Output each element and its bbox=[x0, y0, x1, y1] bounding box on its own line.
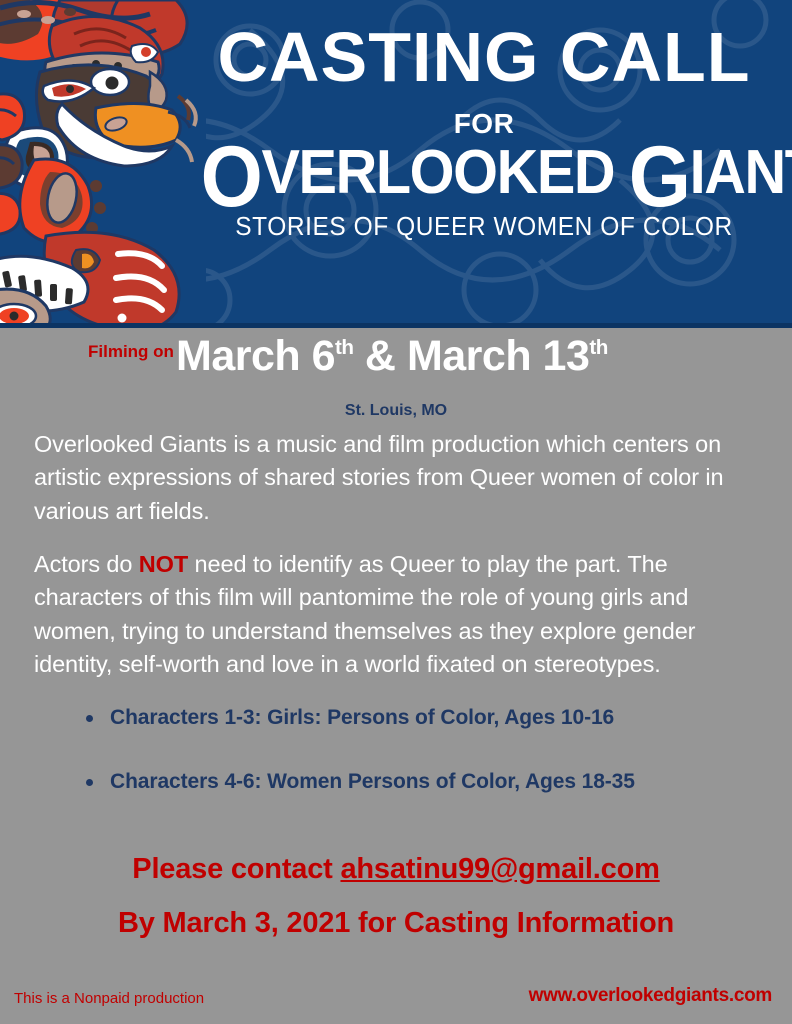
list-item: Characters 4-6: Women Persons of Color, … bbox=[86, 770, 746, 794]
headline-casting-call: CASTING CALL bbox=[176, 22, 792, 92]
title-cap-o: O bbox=[201, 129, 262, 225]
role-text-2: Characters 4-6: Women Persons of Color, … bbox=[110, 770, 635, 794]
for-label: FOR bbox=[176, 108, 792, 140]
date-separator: & bbox=[353, 332, 406, 380]
title-part-b: IANTS bbox=[690, 138, 792, 207]
contact-email-link[interactable]: ahsatinu99@gmail.com bbox=[340, 853, 659, 885]
banner-bottom-rule bbox=[0, 323, 792, 328]
date-one: March 6 bbox=[176, 332, 335, 380]
film-subtitle: STORIES OF QUEER WOMEN OF COLOR bbox=[188, 213, 779, 242]
date-two-suffix: th bbox=[589, 336, 607, 359]
title-part-a: VERLOOKED bbox=[261, 138, 628, 207]
emphasis-not: NOT bbox=[139, 551, 188, 577]
nonpaid-note: This is a Nonpaid production bbox=[14, 990, 204, 1007]
contact-section: Please contact ahsatinu99@gmail.com By M… bbox=[0, 855, 792, 938]
filming-on-label: Filming on bbox=[88, 342, 174, 362]
city-label: St. Louis, MO bbox=[0, 402, 792, 420]
paragraph-about: Overlooked Giants is a music and film pr… bbox=[34, 428, 758, 528]
header-banner: CASTING CALL FOR OVERLOOKED GIANTS STORI… bbox=[0, 0, 792, 328]
body-copy: Overlooked Giants is a music and film pr… bbox=[34, 428, 758, 702]
casting-call-flyer: CASTING CALL FOR OVERLOOKED GIANTS STORI… bbox=[0, 0, 792, 1024]
film-title-wrap: OVERLOOKED GIANTS bbox=[176, 143, 792, 207]
date-one-suffix: th bbox=[335, 336, 353, 359]
header-text-block: CASTING CALL FOR OVERLOOKED GIANTS STORI… bbox=[176, 0, 792, 328]
contact-deadline: By March 3, 2021 for Casting Information bbox=[0, 909, 792, 938]
date-section: Filming on March 6th & March 13th St. Lo… bbox=[0, 336, 792, 388]
film-title: OVERLOOKED GIANTS bbox=[201, 143, 792, 207]
contact-prefix: Please contact bbox=[132, 853, 340, 885]
contact-line-email: Please contact ahsatinu99@gmail.com bbox=[0, 855, 792, 884]
filming-dates: March 6th & March 13th bbox=[176, 332, 608, 381]
date-two: March 13 bbox=[407, 332, 589, 380]
bullet-dot-icon bbox=[86, 779, 93, 786]
paragraph-2-before: Actors do bbox=[34, 551, 139, 577]
website-link[interactable]: www.overlookedgiants.com bbox=[529, 985, 772, 1007]
paragraph-requirements: Actors do NOT need to identify as Queer … bbox=[34, 548, 758, 681]
list-item: Characters 1-3: Girls: Persons of Color,… bbox=[86, 706, 746, 730]
role-text-1: Characters 1-3: Girls: Persons of Color,… bbox=[110, 706, 614, 730]
title-cap-g: G bbox=[629, 129, 690, 225]
bullet-dot-icon bbox=[86, 715, 93, 722]
character-roles-list: Characters 1-3: Girls: Persons of Color,… bbox=[86, 706, 746, 834]
